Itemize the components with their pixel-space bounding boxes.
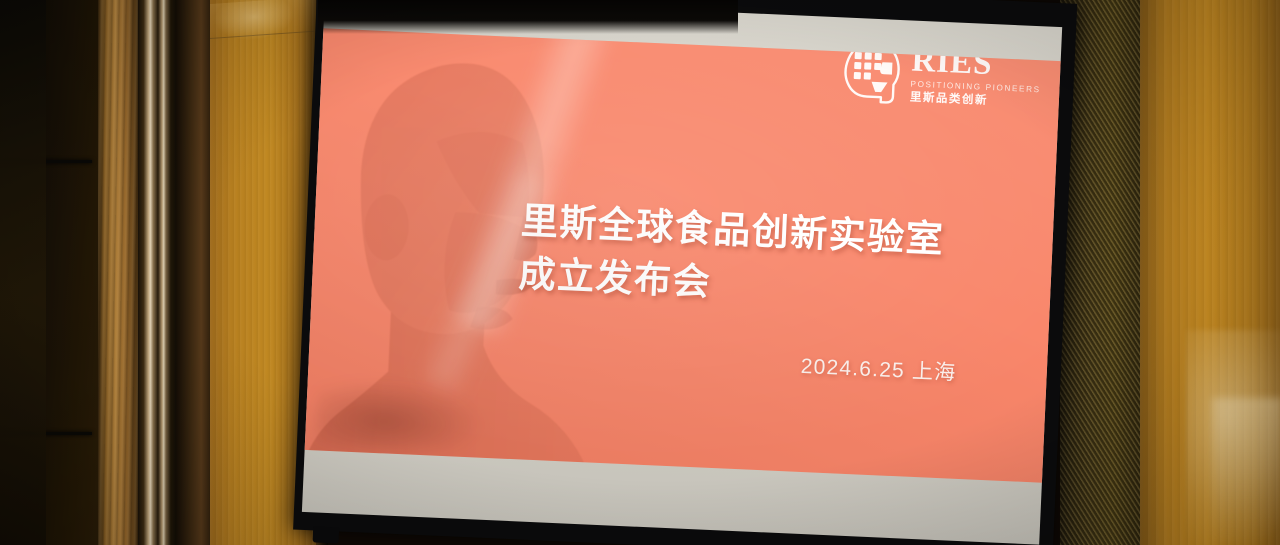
ries-chinese-name: 里斯品类创新 — [910, 93, 1041, 110]
projection-screen-frame: RIES POSITIONING PIONEERS 里斯品类创新 里斯全球食品创… — [293, 0, 1077, 545]
recess-seam-upper — [0, 160, 92, 163]
head-with-grid-icon — [841, 38, 906, 107]
ries-wordmark: RIES POSITIONING PIONEERS 里斯品类创新 — [910, 45, 1043, 110]
left-wood-return-edge — [176, 0, 212, 545]
presentation-slide: RIES POSITIONING PIONEERS 里斯品类创新 里斯全球食品创… — [305, 28, 1061, 482]
left-metal-reveal-strips — [138, 0, 178, 545]
projection-screen-surface: RIES POSITIONING PIONEERS 里斯品类创新 里斯全球食品创… — [302, 0, 1062, 545]
slide-date-location: 2024.6.25 上海 — [800, 350, 957, 387]
right-panel-reflection-highlight — [1212, 398, 1280, 545]
left-wood-pilaster — [98, 0, 140, 545]
screen-foot-left — [313, 526, 340, 543]
ries-brand-name: RIES — [911, 45, 1043, 84]
recess-seam-lower — [0, 432, 92, 435]
ries-logo: RIES POSITIONING PIONEERS 里斯品类创新 — [840, 28, 1044, 124]
conference-room-photo: RIES POSITIONING PIONEERS 里斯品类创新 里斯全球食品创… — [0, 0, 1280, 545]
left-dark-recess-wall — [0, 0, 100, 545]
slide-title: 里斯全球食品创新实验室 成立发布会 — [518, 195, 946, 319]
